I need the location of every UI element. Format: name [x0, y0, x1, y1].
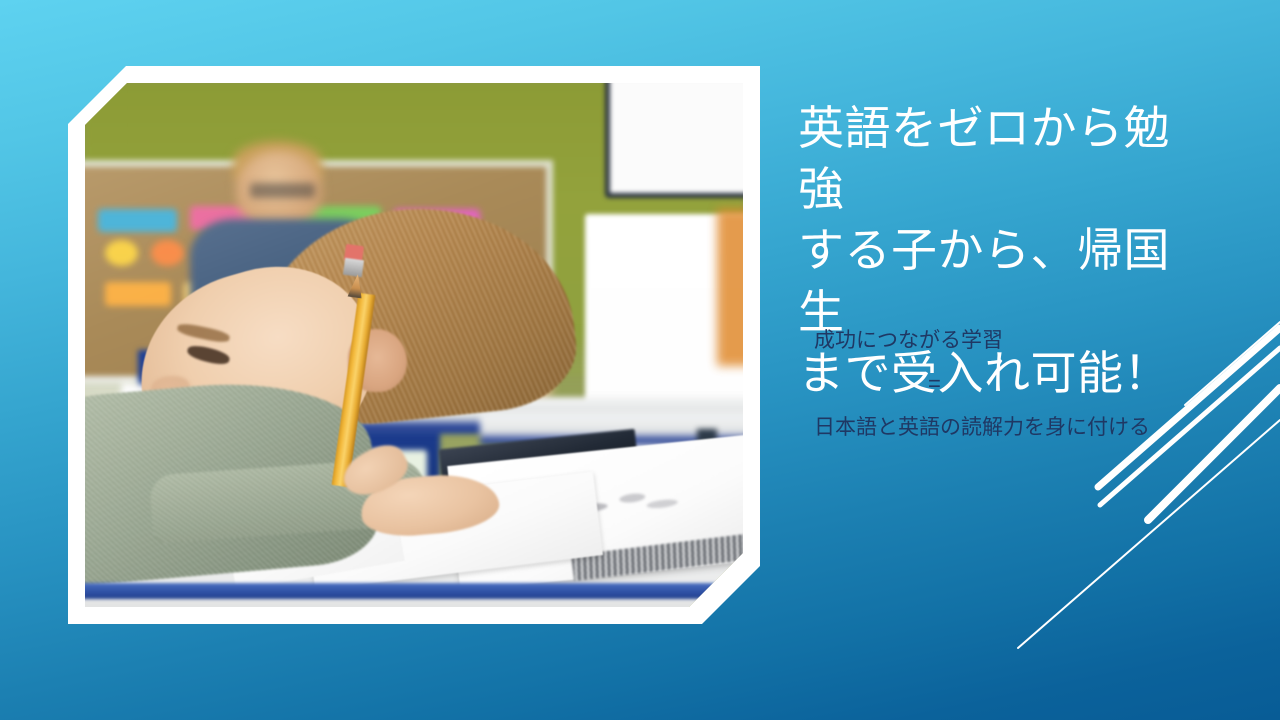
photo-pencil-ferrule — [343, 257, 364, 276]
headline-line-1: 英語をゼロから勉強 — [798, 98, 1198, 220]
subtitle-block: 成功につながる学習 = 日本語と英語の読解力を身に付ける — [792, 330, 1252, 439]
subtitle-equals-sign: = — [928, 372, 1252, 395]
classroom-photo — [85, 83, 743, 607]
photo-desk-front-edge — [85, 583, 743, 599]
photo-teacher-glasses — [250, 183, 316, 199]
subtitle-line-2: 日本語と英語の読解力を身に付ける — [814, 417, 1252, 439]
slide-canvas: 英語をゼロから勉強 する子から、帰国生 まで受入れ可能！ 成功につながる学習 =… — [0, 0, 1280, 720]
photo-frame — [68, 66, 760, 624]
photo-cork-dot-2 — [151, 240, 184, 266]
photo-cork-strip-5 — [105, 282, 171, 306]
headline-line-2: する子から、帰国生 — [798, 220, 1198, 342]
photo-orange-accent — [717, 209, 743, 366]
photo-cork-dot-1 — [105, 240, 138, 266]
photo-cork-strip-1 — [98, 209, 177, 233]
streak-line-5 — [1018, 420, 1280, 648]
photo-wall-panel-top — [605, 83, 743, 198]
subtitle-line-1: 成功につながる学習 — [814, 330, 1252, 352]
